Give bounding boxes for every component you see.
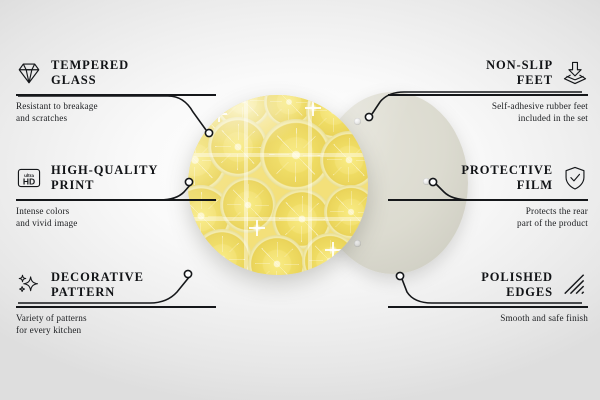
feature-desc-line1: Resistant to breakage [16, 100, 216, 113]
feature-protective-film: PROTECTIVE FILM Protects the rear part o… [388, 161, 588, 230]
feature-description: Resistant to breakage and scratches [16, 100, 216, 125]
feature-desc-line2: part of the product [388, 217, 588, 230]
feature-title-line1: DECORATIVE [51, 270, 144, 285]
feature-title: HIGH-QUALITY PRINT [51, 163, 158, 193]
feature-title-line2: FEET [486, 73, 553, 88]
feature-polished-edges: POLISHED EDGES Smooth and safe finish [388, 268, 588, 324]
feature-description: Smooth and safe finish [388, 312, 588, 325]
hd-label: HD [23, 177, 35, 187]
feature-desc-line2: and scratches [16, 112, 216, 125]
feature-header: NON-SLIP FEET [388, 56, 588, 90]
feature-high-quality-print: ultra HD HIGH-QUALITY PRINT Intense colo… [16, 161, 216, 230]
feature-title-line2: PRINT [51, 178, 158, 193]
feature-divider [388, 199, 588, 201]
feature-description: Intense colors and vivid image [16, 205, 216, 230]
feature-divider [388, 94, 588, 96]
feature-desc-line1: Intense colors [16, 205, 216, 218]
feature-desc-line2: included in the set [388, 112, 588, 125]
diagonal-stripes-icon [562, 272, 588, 298]
feature-desc-line1: Variety of patterns [16, 312, 216, 325]
feature-header: ultra HD HIGH-QUALITY PRINT [16, 161, 216, 195]
feature-non-slip-feet: NON-SLIP FEET Self-adhesive rubber feet … [388, 56, 588, 125]
feature-description: Self-adhesive rubber feet included in th… [388, 100, 588, 125]
feature-title: POLISHED EDGES [481, 270, 553, 300]
feature-title-line2: GLASS [51, 73, 129, 88]
feature-title: TEMPERED GLASS [51, 58, 129, 88]
feature-desc-line2: and vivid image [16, 217, 216, 230]
feature-divider [16, 94, 216, 96]
feature-title-line2: PATTERN [51, 285, 144, 300]
feature-header: DECORATIVE PATTERN [16, 268, 216, 302]
feature-title-line1: NON-SLIP [486, 58, 553, 73]
connector-dot-non-slip-feet [365, 113, 372, 120]
feature-title-line1: TEMPERED [51, 58, 129, 73]
feature-desc-line2: for every kitchen [16, 324, 216, 337]
feature-description: Protects the rear part of the product [388, 205, 588, 230]
ultra-hd-badge-icon: ultra HD [16, 165, 42, 191]
sparkles-icon [16, 272, 42, 298]
feature-title-line1: POLISHED [481, 270, 553, 285]
feature-header: POLISHED EDGES [388, 268, 588, 302]
feature-title-line2: FILM [461, 178, 553, 193]
feature-header: TEMPERED GLASS [16, 56, 216, 90]
feature-title-line1: PROTECTIVE [461, 163, 553, 178]
feature-desc-line1: Protects the rear [388, 205, 588, 218]
feature-decorative-pattern: DECORATIVE PATTERN Variety of patterns f… [16, 268, 216, 337]
feature-header: PROTECTIVE FILM [388, 161, 588, 195]
arrow-into-pad-icon [562, 60, 588, 86]
feature-title: DECORATIVE PATTERN [51, 270, 144, 300]
feature-description: Variety of patterns for every kitchen [16, 312, 216, 337]
feature-title-line2: EDGES [481, 285, 553, 300]
infographic-stage: TEMPERED GLASS Resistant to breakage and… [0, 0, 600, 400]
feature-divider [16, 199, 216, 201]
feature-tempered-glass: TEMPERED GLASS Resistant to breakage and… [16, 56, 216, 125]
feature-divider [388, 306, 588, 308]
feature-title: PROTECTIVE FILM [461, 163, 553, 193]
connector-dot-tempered-glass [205, 129, 212, 136]
feature-desc-line1: Smooth and safe finish [388, 312, 588, 325]
feature-title-line1: HIGH-QUALITY [51, 163, 158, 178]
diamond-icon [16, 60, 42, 86]
shield-check-icon [562, 165, 588, 191]
feature-title: NON-SLIP FEET [486, 58, 553, 88]
feature-divider [16, 306, 216, 308]
feature-desc-line1: Self-adhesive rubber feet [388, 100, 588, 113]
